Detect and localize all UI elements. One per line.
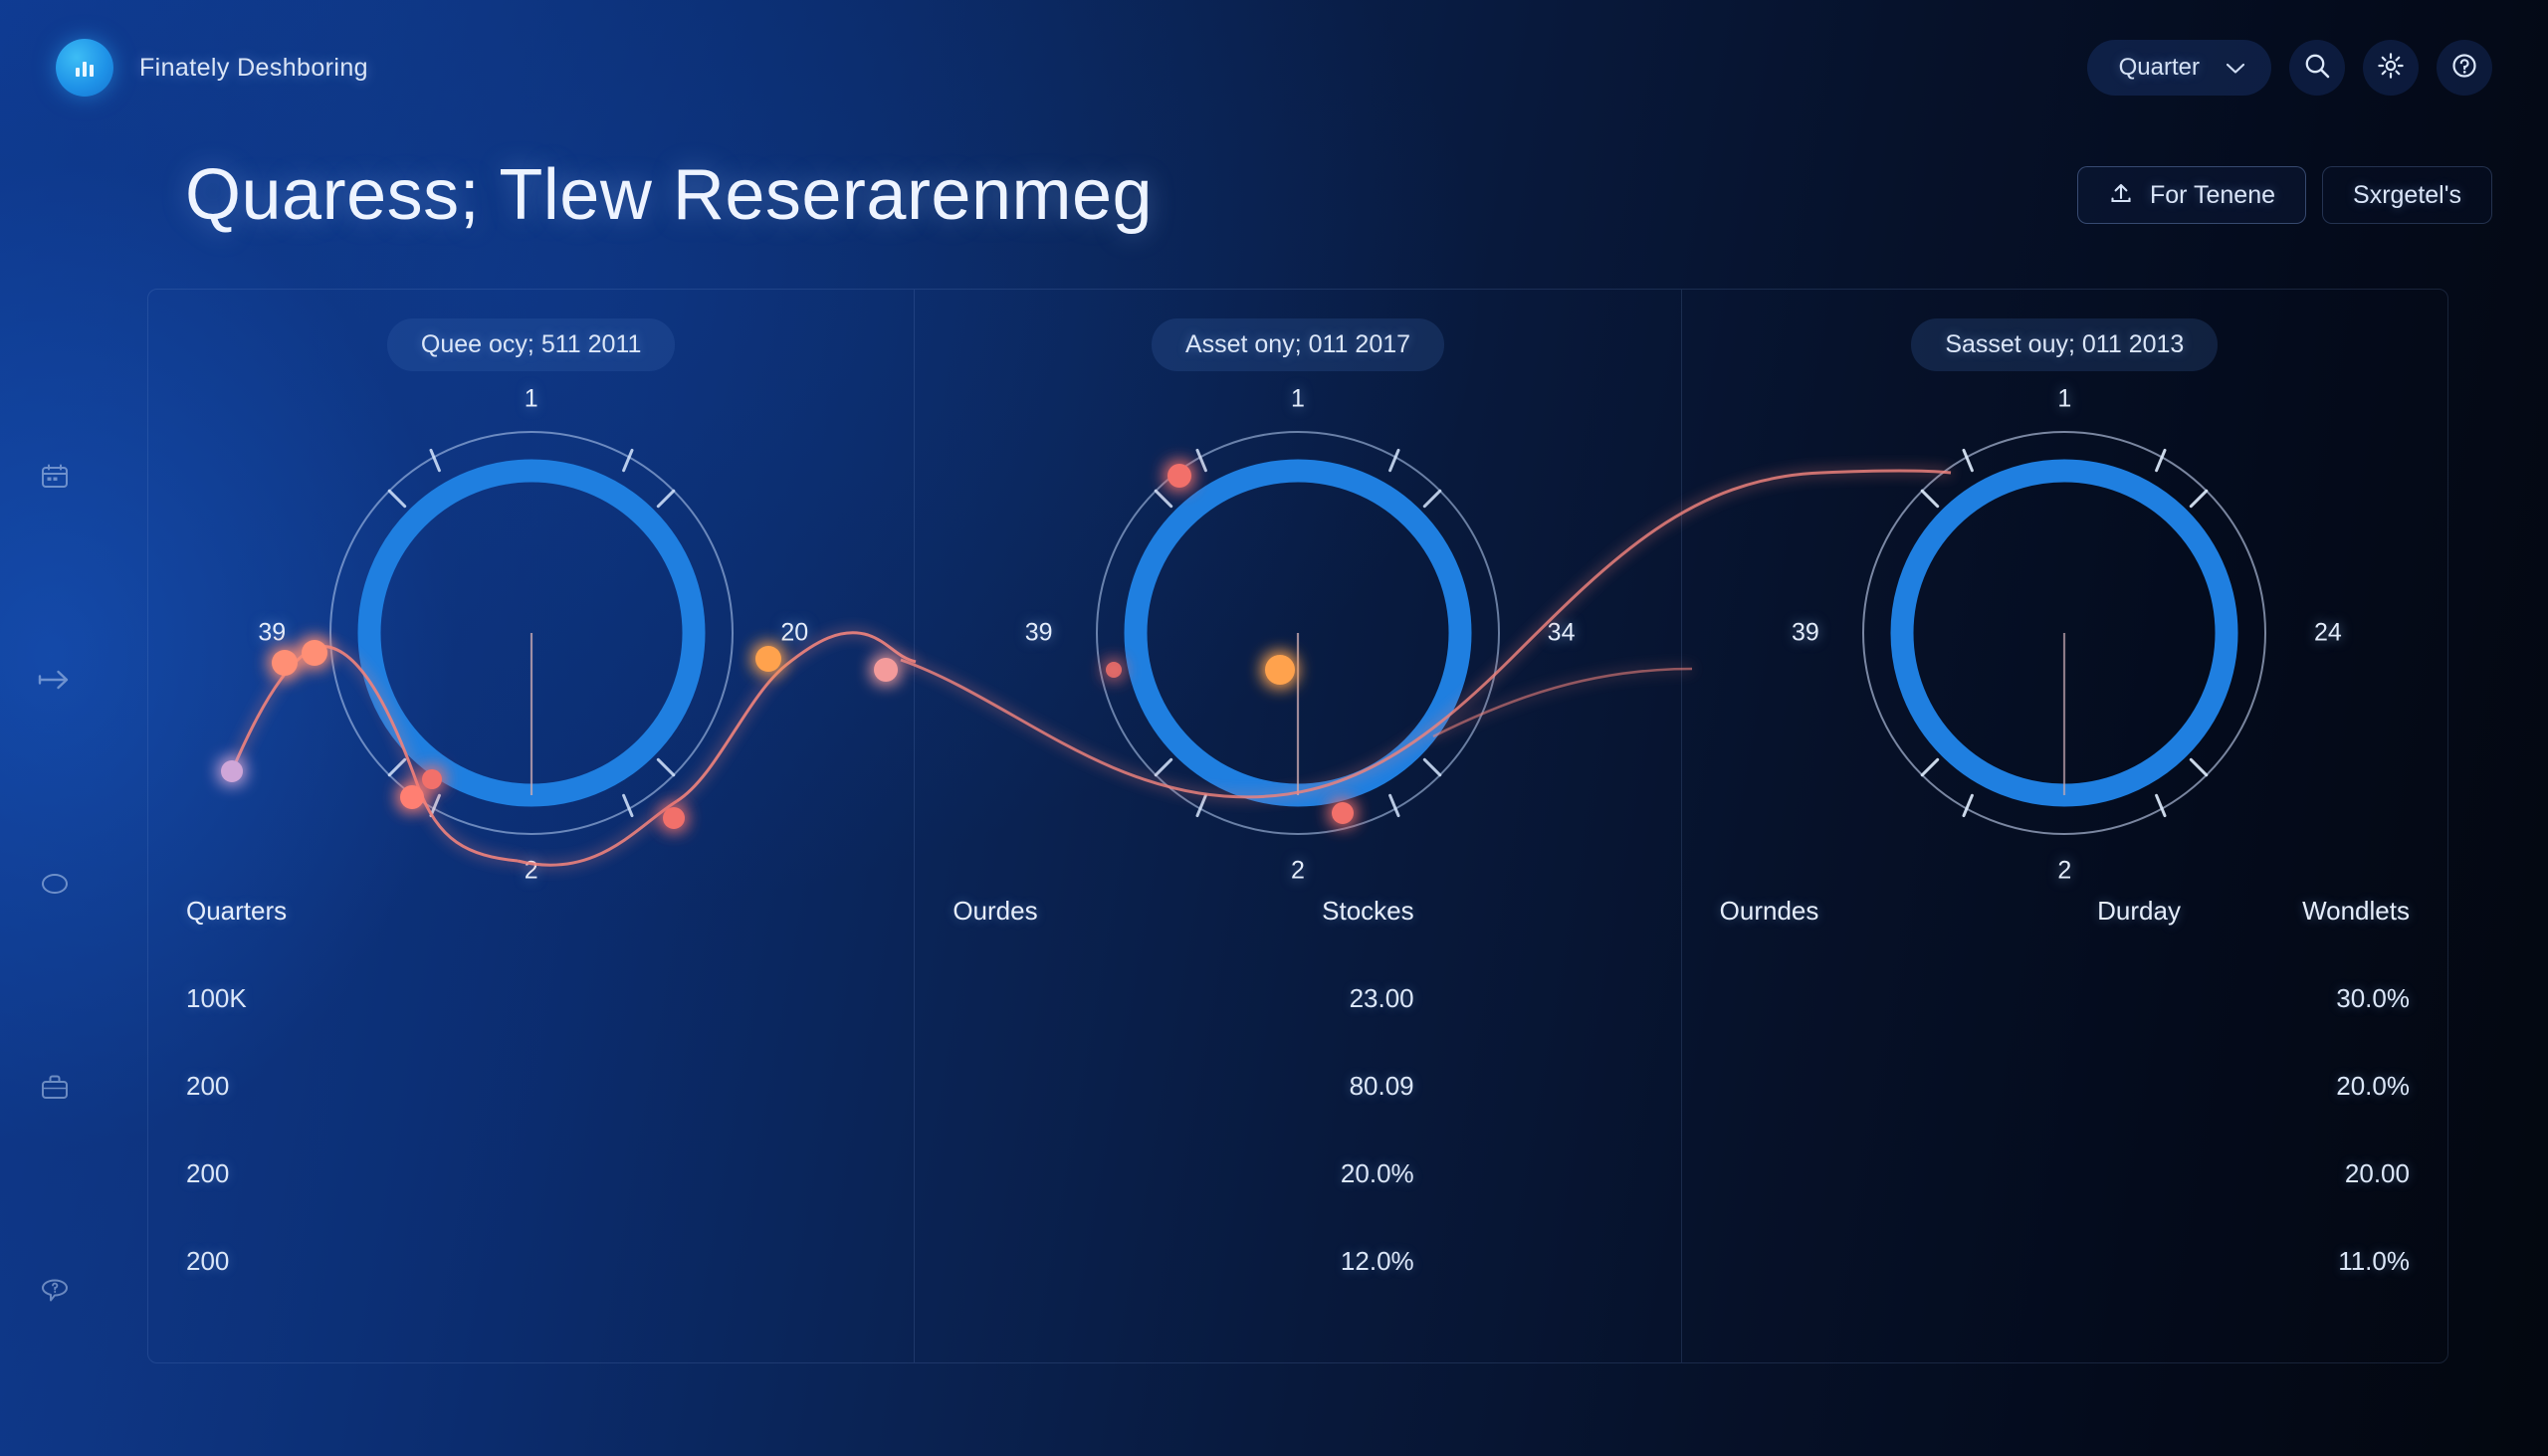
table-row[interactable]: 200 [186,1042,876,1130]
table-row[interactable]: 30.0% [1720,954,2410,1042]
circle-icon [38,869,72,904]
cell-mid: 12.0% [1205,1246,1414,1277]
column-header-left: Quarters [186,896,438,927]
dashboard-root: Finately Deshboring Quarter [0,0,2548,1456]
gauge-dial: 1 2 39 34 [1089,424,1507,842]
top-bar-actions: Quarter [2087,40,2492,96]
settings-button[interactable] [2363,40,2419,96]
search-icon [2302,51,2332,86]
table-row[interactable]: 200 [186,1130,876,1217]
panel-table: Quarters 100K 200 200 [148,867,914,1362]
table-row[interactable]: 200 [186,1217,876,1305]
cell-mid: 80.09 [1205,1071,1414,1102]
panel-badge-row: Quee ocy; 511 2011 [148,290,914,399]
page-title: Quaress; Tlew Reserarenmeg [185,154,1153,236]
help-circle-icon [2449,51,2479,86]
cell-left: 200 [186,1071,438,1102]
chat-help-icon [38,1275,72,1312]
sidebar-item-transfer[interactable] [24,652,86,714]
panel-badge: Sasset ouy; 011 2013 [1911,318,2218,371]
export-button[interactable]: For Tenene [2077,166,2306,224]
column-header-mid: Stockes [1205,896,1414,927]
help-button[interactable] [2437,40,2492,96]
gauge-label-right: 20 [780,619,808,648]
column-header-mid: Durday [1972,896,2181,927]
app-title: Finately Deshboring [139,54,368,83]
export-button-label: For Tenene [2150,181,2275,210]
briefcase-icon [38,1071,72,1108]
table-row[interactable]: 80.09 [953,1042,1642,1130]
gauge-label-left: 39 [1025,619,1053,648]
page-header-actions: For Tenene Sxrgetel's [2077,166,2492,224]
column-header-left: Ourndes [1720,896,1972,927]
secondary-action-label: Sxrgetel's [2353,181,2461,210]
panel-badge-row: Sasset ouy; 011 2013 [1682,290,2447,399]
secondary-action-button[interactable]: Sxrgetel's [2322,166,2492,224]
search-button[interactable] [2289,40,2345,96]
sidebar-item-circle[interactable] [24,855,86,917]
period-select[interactable]: Quarter [2087,40,2271,96]
cell-mid: 20.0% [1205,1158,1414,1189]
cell-right: 20.00 [2181,1158,2410,1189]
gauge-container: 1 2 39 34 [915,399,1680,867]
gauge-label-left: 39 [1792,619,1819,648]
cell-left: 200 [186,1246,438,1277]
cell-right: 20.0% [2181,1071,2410,1102]
cell-left: 200 [186,1158,438,1189]
gauge-label-right: 34 [1548,619,1576,648]
gauge-dial: 1 2 39 20 [322,424,741,842]
calendar-icon [38,460,72,499]
page-header: Quaress; Tlew Reserarenmeg For Tenene Sx… [0,154,2548,236]
table-row[interactable]: 100K [186,954,876,1042]
panel-table: Ourdes Stockes 23.00 80.09 20.0% [915,867,1680,1362]
gear-icon [2376,51,2406,86]
gauge-label-right: 24 [2314,619,2342,648]
panel-card: Sasset ouy; 011 2013 [1682,290,2447,1362]
table-row[interactable]: 11.0% [1720,1217,2410,1305]
gauge-container: 1 2 39 20 [148,399,914,867]
sidebar-item-portfolio[interactable] [24,1059,86,1121]
gauge-label-top: 1 [2057,384,2071,413]
chart-logo-icon [56,39,113,97]
gauge-label-bottom: 2 [525,857,538,886]
panel-card: Asset ony; 011 2017 [915,290,1681,1362]
table-row[interactable]: 20.0% [1720,1042,2410,1130]
table-row[interactable]: 20.00 [1720,1130,2410,1217]
panel-grid: Quee ocy; 511 2011 [147,289,2448,1363]
table-row[interactable]: 23.00 [953,954,1642,1042]
gauge-label-bottom: 2 [1291,857,1305,886]
cell-right: 30.0% [2181,983,2410,1014]
panel-badge: Quee ocy; 511 2011 [387,318,675,371]
gauge-label-left: 39 [258,619,286,648]
arrow-right-icon [36,666,74,699]
column-header-left: Ourdes [953,896,1204,927]
panel-card: Quee ocy; 511 2011 [148,290,915,1362]
brand: Finately Deshboring [56,39,368,97]
panel-badge-row: Asset ony; 011 2017 [915,290,1680,399]
table-row[interactable]: 12.0% [953,1217,1642,1305]
upload-icon [2108,179,2134,212]
top-bar: Finately Deshboring Quarter [0,0,2548,135]
column-header-right: Wondlets [2181,896,2410,927]
cell-mid: 23.00 [1205,983,1414,1014]
table-row[interactable]: 20.0% [953,1130,1642,1217]
panel-table: Ourndes Durday Wondlets 30.0% 20.0% [1682,867,2447,1362]
gauge-container: 1 2 39 24 [1682,399,2447,867]
gauge-dial: 1 2 39 24 [1855,424,2273,842]
gauge-label-top: 1 [1291,384,1305,413]
sidebar-item-support[interactable] [24,1262,86,1324]
sidebar [0,418,109,1353]
cell-left: 100K [186,983,438,1014]
chevron-down-icon [2226,54,2245,82]
period-select-label: Quarter [2119,54,2200,82]
panel-badge: Asset ony; 011 2017 [1152,318,1444,371]
gauge-label-bottom: 2 [2057,857,2071,886]
gauge-label-top: 1 [525,384,538,413]
sidebar-item-calendar[interactable] [24,448,86,510]
cell-right: 11.0% [2181,1246,2410,1277]
